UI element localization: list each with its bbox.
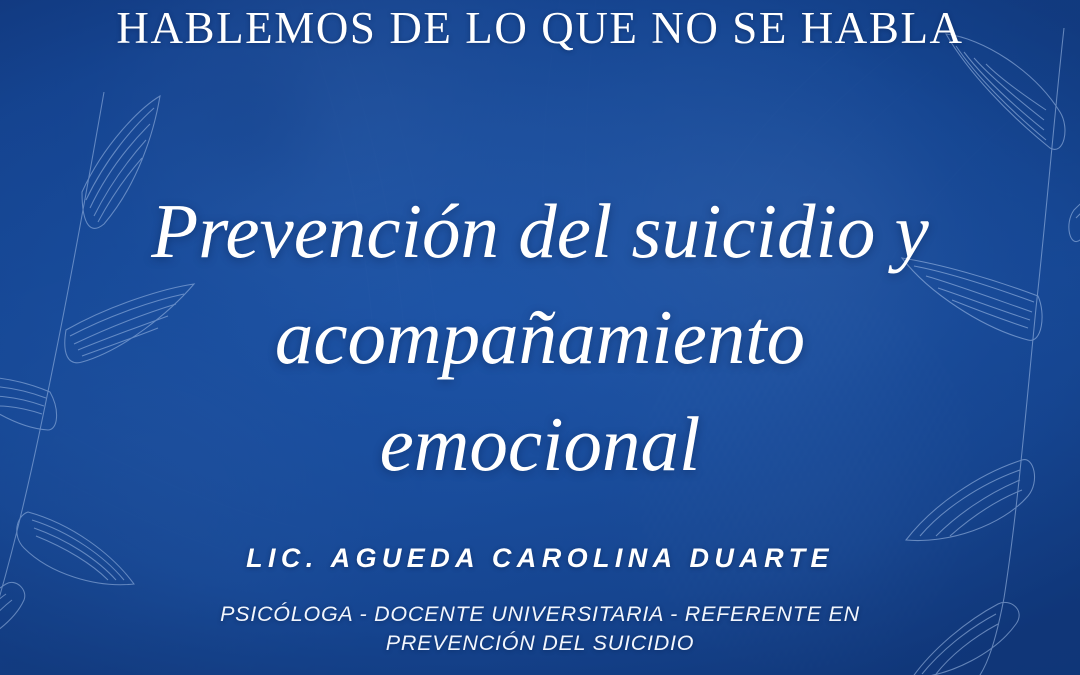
presenter-credentials: PSICÓLOGA - DOCENTE UNIVERSITARIA - REFE…: [0, 600, 1080, 658]
title-line-1: Prevención del suicidio y: [0, 178, 1080, 284]
title-line-2: acompañamiento: [0, 284, 1080, 390]
poster-kicker: HABLEMOS DE LO QUE NO SE HABLA: [0, 6, 1080, 51]
presenter-name: LIC. AGUEDA CAROLINA DUARTE: [0, 543, 1080, 574]
title-line-3: emocional: [0, 391, 1080, 497]
credential-line-2: PREVENCIÓN DEL SUICIDIO: [0, 629, 1080, 658]
poster-title: Prevención del suicidio y acompañamiento…: [0, 178, 1080, 497]
poster-content: HABLEMOS DE LO QUE NO SE HABLA Prevenció…: [0, 0, 1080, 675]
credential-line-1: PSICÓLOGA - DOCENTE UNIVERSITARIA - REFE…: [0, 600, 1080, 629]
event-poster: HABLEMOS DE LO QUE NO SE HABLA Prevenció…: [0, 0, 1080, 675]
